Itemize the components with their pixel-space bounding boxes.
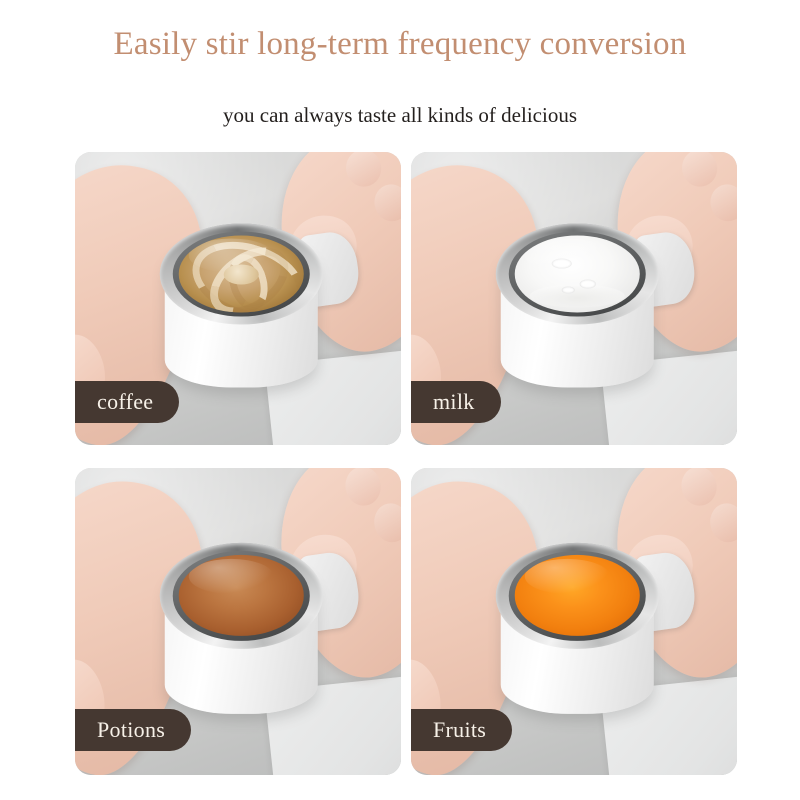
product-feature-page: Easily stir long-term frequency conversi… [0, 0, 800, 800]
mug-steel-rim [160, 542, 323, 649]
mug-steel-rim [160, 223, 323, 325]
label-badge-milk: milk [411, 381, 501, 423]
gallery-card-milk[interactable]: milk [411, 152, 737, 445]
stirring-mug [496, 223, 659, 387]
label-badge-coffee: coffee [75, 381, 179, 423]
stirring-mug [160, 223, 323, 387]
page-subtitle: you can always taste all kinds of delici… [0, 103, 800, 128]
knuckle [371, 182, 401, 224]
knuckle [371, 500, 401, 544]
gallery-card-potions[interactable]: Potions [75, 468, 401, 775]
label-badge-fruits: Fruits [411, 709, 512, 751]
liquid-highlight [188, 559, 274, 594]
stirring-mug [160, 542, 323, 714]
gallery-card-coffee[interactable]: coffee [75, 152, 401, 445]
stirring-mug [496, 542, 659, 714]
mug-interior [173, 231, 310, 316]
knuckle [678, 468, 719, 508]
liquid-fruits [514, 555, 640, 636]
milk-foam-band [529, 285, 625, 308]
label-badge-potions: Potions [75, 709, 191, 751]
gallery-card-fruits[interactable]: Fruits [411, 468, 737, 775]
liquid-milk [514, 235, 640, 312]
knuckle [343, 152, 383, 190]
photo-gallery-grid: coffee [75, 152, 737, 775]
page-title: Easily stir long-term frequency conversi… [0, 26, 800, 63]
mug-steel-rim [496, 542, 659, 649]
liquid-highlight [524, 238, 610, 272]
mug-interior [509, 551, 646, 641]
knuckle [342, 468, 383, 508]
liquid-coffee [178, 235, 304, 312]
liquid-highlight [524, 559, 610, 594]
knuckle [707, 182, 737, 224]
liquid-potions [178, 555, 304, 636]
mug-interior [173, 551, 310, 641]
mug-steel-rim [496, 223, 659, 325]
foam-bubble [562, 286, 575, 293]
knuckle [707, 500, 737, 544]
knuckle [679, 152, 719, 190]
mug-interior [509, 231, 646, 316]
